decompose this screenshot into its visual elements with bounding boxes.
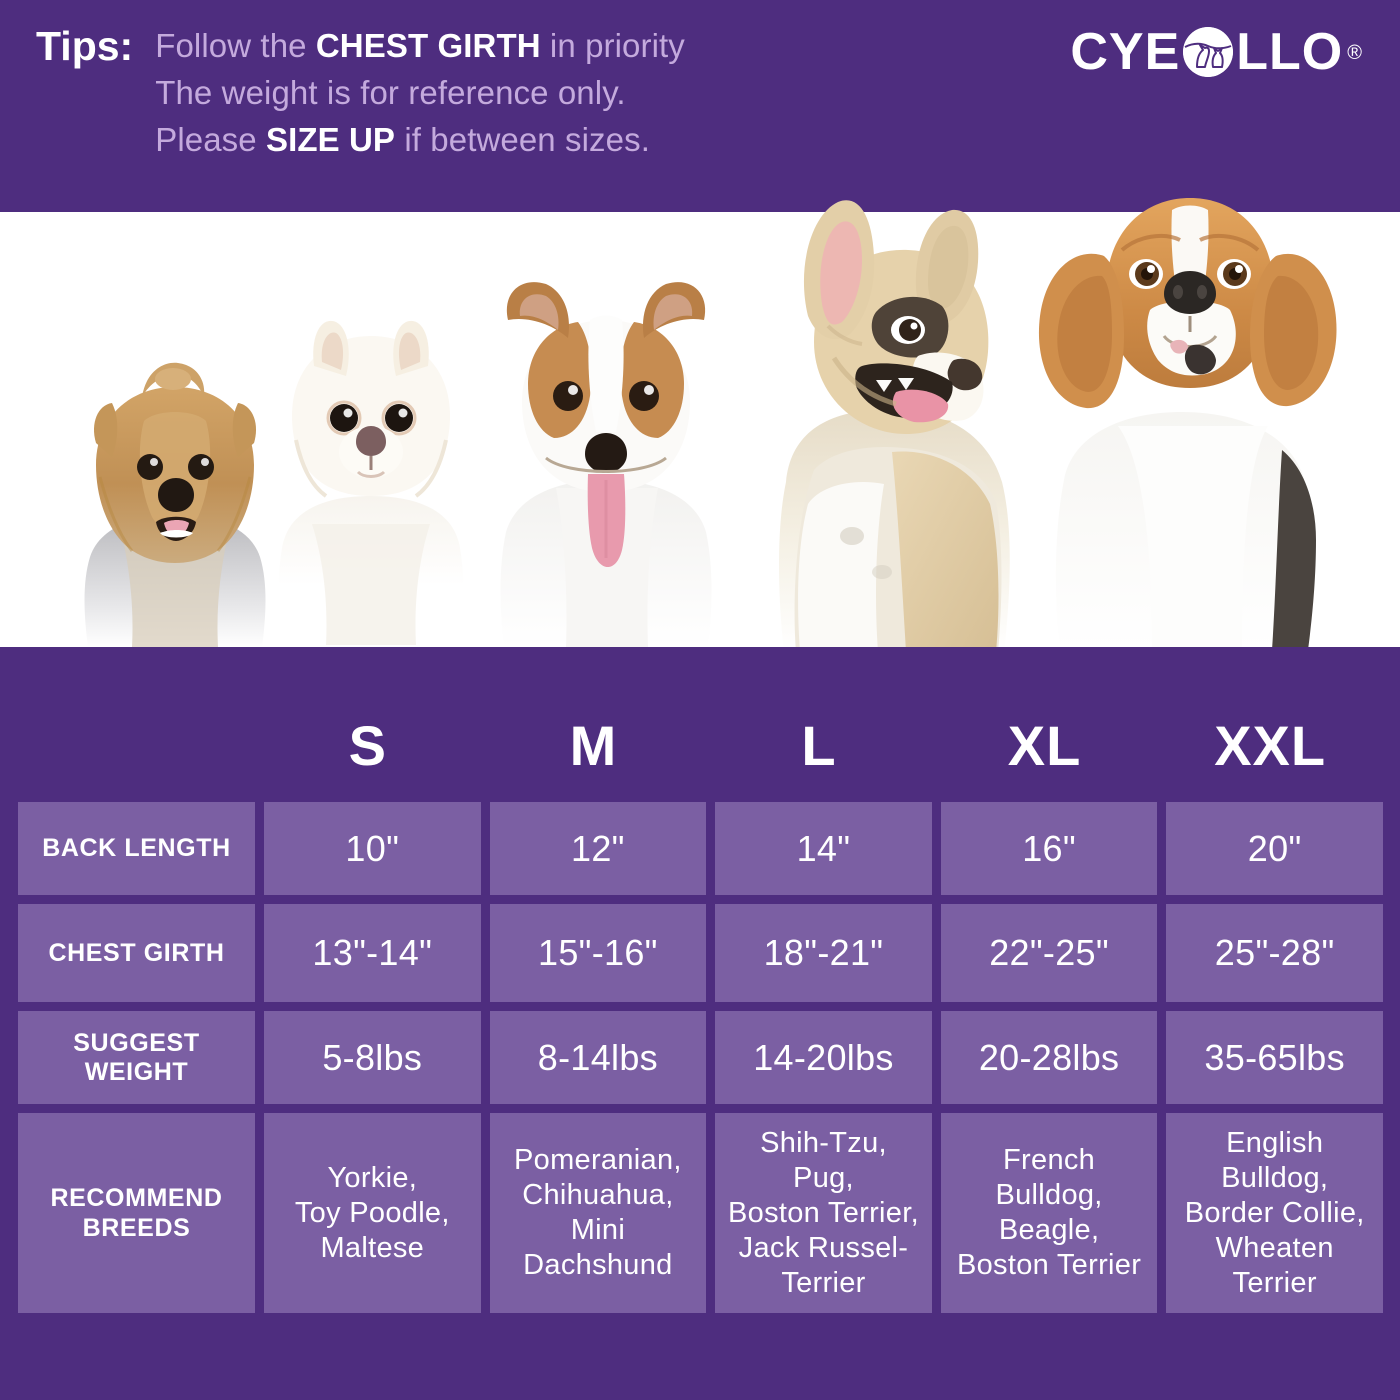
tips-block: Tips: Follow the CHEST GIRTH in priority… bbox=[36, 22, 685, 163]
dog-cat-circle-icon bbox=[1183, 27, 1233, 77]
tips-line-1-post: in priority bbox=[541, 27, 685, 64]
cell-back-length-xl: 16" bbox=[941, 802, 1158, 895]
logo-row: CYE LLO ® bbox=[1070, 24, 1362, 80]
table-row-suggest-weight: SUGGEST WEIGHT 5-8lbs 8-14lbs 14-20lbs 2… bbox=[18, 1011, 1383, 1104]
tips-lines: Follow the CHEST GIRTH in priority The w… bbox=[155, 22, 685, 163]
table-row-back-length: BACK LENGTH 10" 12" 14" 16" 20" bbox=[18, 802, 1383, 895]
row-label-back-length: BACK LENGTH bbox=[18, 802, 255, 895]
size-chart-page: Tips: Follow the CHEST GIRTH in priority… bbox=[0, 0, 1400, 1400]
cell-back-length-l: 14" bbox=[715, 802, 932, 895]
cell-chest-girth-xl: 22"-25" bbox=[941, 904, 1158, 1002]
cell-chest-girth-l: 18"-21" bbox=[715, 904, 932, 1002]
tips-line-3-pre: Please bbox=[155, 121, 266, 158]
dog-photo-band bbox=[0, 212, 1400, 647]
cell-suggest-weight-m: 8-14lbs bbox=[490, 1011, 707, 1104]
tips-label: Tips: bbox=[36, 22, 133, 70]
size-header-spacer bbox=[18, 690, 255, 800]
table-row-recommend-breeds: RECOMMEND BREEDS Yorkie, Toy Poodle, Mal… bbox=[18, 1113, 1383, 1313]
size-header-row: S M L XL XXL bbox=[18, 690, 1383, 800]
dog-photo-jack-russell-terrier bbox=[472, 262, 742, 647]
cell-breeds-m: Pomeranian, Chihuahua, Mini Dachshund bbox=[490, 1113, 707, 1313]
registered-trademark-icon: ® bbox=[1347, 43, 1362, 63]
tips-line-1-bold: CHEST GIRTH bbox=[316, 27, 541, 64]
size-header-m: M bbox=[481, 690, 707, 800]
cell-breeds-l: Shih-Tzu, Pug, Boston Terrier, Jack Russ… bbox=[715, 1113, 932, 1313]
tips-line-3: Please SIZE UP if between sizes. bbox=[155, 116, 685, 163]
cell-breeds-xxl: English Bulldog, Border Collie, Wheaten … bbox=[1166, 1113, 1383, 1313]
dog-photo-beagle bbox=[1010, 150, 1340, 650]
table-row-chest-girth: CHEST GIRTH 13"-14" 15"-16" 18"-21" 22"-… bbox=[18, 904, 1383, 1002]
cell-suggest-weight-s: 5-8lbs bbox=[264, 1011, 481, 1104]
size-header-l: L bbox=[706, 690, 932, 800]
tips-line-1: Follow the CHEST GIRTH in priority bbox=[155, 22, 685, 69]
cell-suggest-weight-xl: 20-28lbs bbox=[941, 1011, 1158, 1104]
size-table-body: BACK LENGTH 10" 12" 14" 16" 20" CHEST GI… bbox=[18, 802, 1383, 1322]
cell-chest-girth-m: 15"-16" bbox=[490, 904, 707, 1002]
cell-back-length-s: 10" bbox=[264, 802, 481, 895]
cell-breeds-xl: French Bulldog, Beagle, Boston Terrier bbox=[941, 1113, 1158, 1313]
tips-line-2-pre: The weight is for reference only. bbox=[155, 74, 625, 111]
logo-text-right: LLO bbox=[1236, 24, 1343, 80]
cell-suggest-weight-l: 14-20lbs bbox=[715, 1011, 932, 1104]
cell-chest-girth-s: 13"-14" bbox=[264, 904, 481, 1002]
row-label-chest-girth: CHEST GIRTH bbox=[18, 904, 255, 1002]
cell-back-length-xxl: 20" bbox=[1166, 802, 1383, 895]
logo-text-left: CYE bbox=[1070, 24, 1180, 80]
tips-line-1-pre: Follow the bbox=[155, 27, 316, 64]
size-header-xl: XL bbox=[932, 690, 1158, 800]
tips-line-2: The weight is for reference only. bbox=[155, 69, 685, 116]
size-header-s: S bbox=[255, 690, 481, 800]
size-header-xxl: XXL bbox=[1157, 690, 1383, 800]
cell-back-length-m: 12" bbox=[490, 802, 707, 895]
tips-line-3-post: if between sizes. bbox=[395, 121, 650, 158]
cell-chest-girth-xxl: 25"-28" bbox=[1166, 904, 1383, 1002]
cell-suggest-weight-xxl: 35-65lbs bbox=[1166, 1011, 1383, 1104]
size-table-section: S M L XL XXL BACK LENGTH 10" 12" 14" 16"… bbox=[0, 647, 1400, 1400]
dog-photo-pomeranian bbox=[266, 300, 476, 645]
tips-line-3-bold: SIZE UP bbox=[266, 121, 395, 158]
brand-logo: CYE LLO ® bbox=[1070, 24, 1362, 80]
row-label-recommend-breeds: RECOMMEND BREEDS bbox=[18, 1113, 255, 1313]
dog-photo-yorkshire-terrier bbox=[60, 357, 290, 647]
cell-breeds-s: Yorkie, Toy Poodle, Maltese bbox=[264, 1113, 481, 1313]
row-label-suggest-weight: SUGGEST WEIGHT bbox=[18, 1011, 255, 1104]
